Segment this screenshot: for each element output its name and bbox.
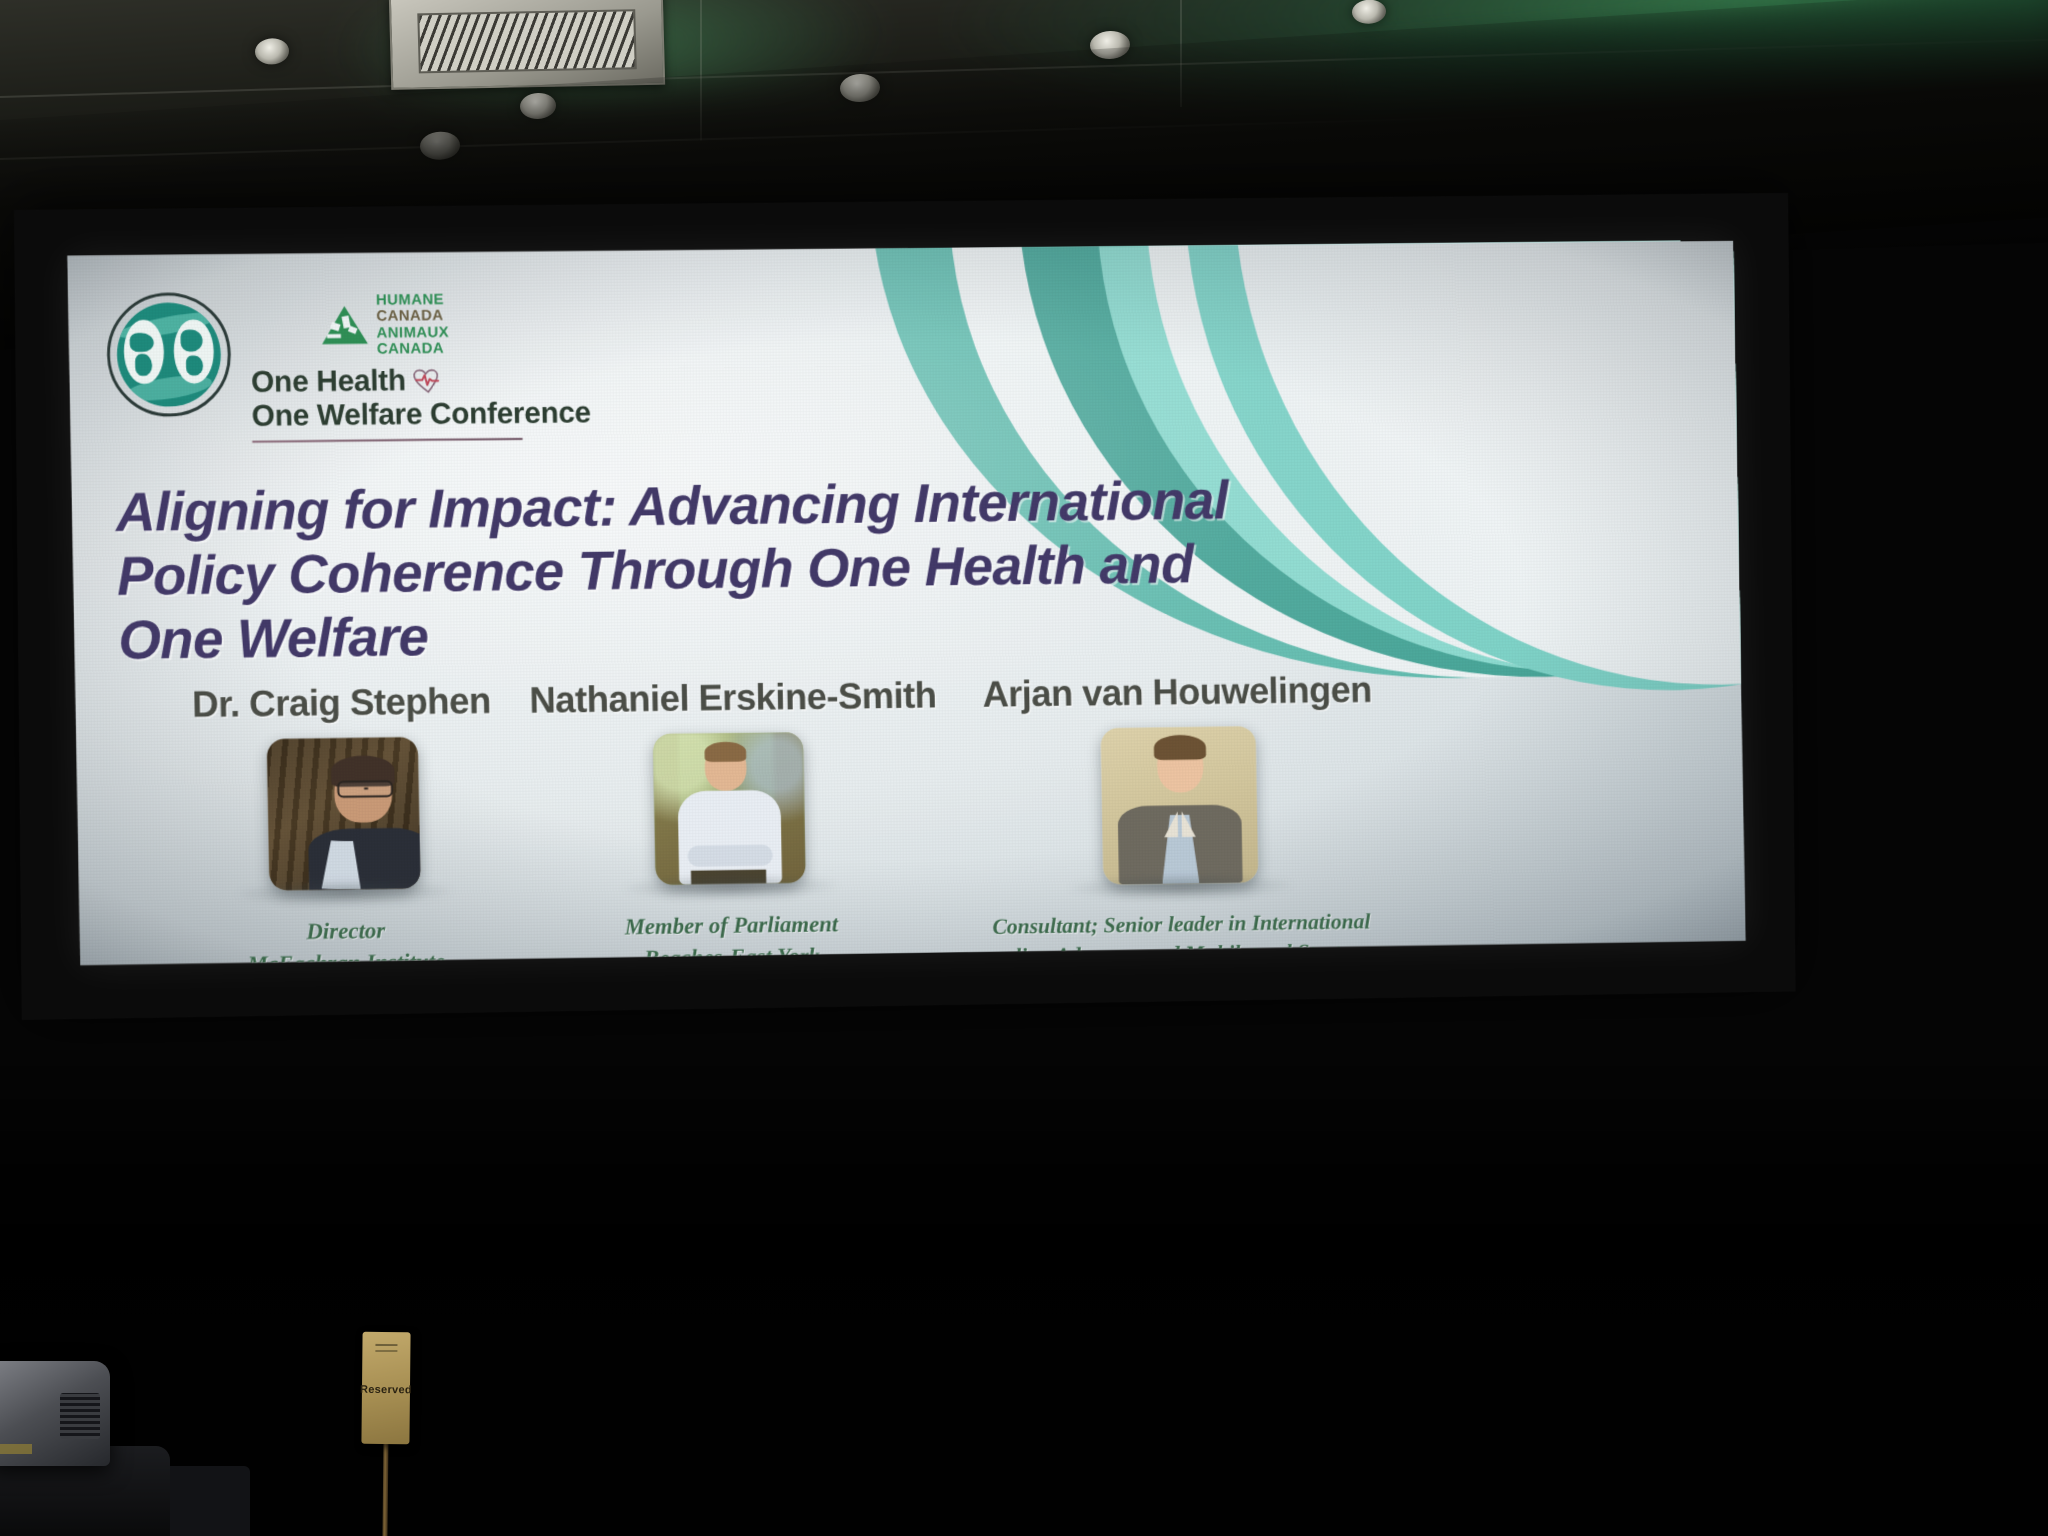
org-line-canada-en: CANADA [376, 308, 449, 324]
conference-title-lockup: One Health One Welfare Conference [251, 363, 591, 433]
speaker-role: Director McEachran Institute [171, 913, 520, 965]
presentation-slide: HUMANE CANADA ANIMAUX CANADA One Health [67, 241, 1745, 966]
conference-room-scene: HUMANE CANADA ANIMAUX CANADA One Health [0, 0, 2048, 1536]
speaker-row: Dr. Craig Stephen [119, 665, 1702, 965]
speaker-name: Dr. Craig Stephen [167, 680, 516, 726]
speaker-name: Nathaniel Erskine-Smith [529, 675, 925, 722]
portrait-drop-shadow [236, 878, 454, 907]
portrait-craig-stephen [267, 737, 421, 891]
speaker-card-craig-stephen: Dr. Craig Stephen [167, 680, 521, 965]
projector-vents [60, 1393, 100, 1439]
projection-screen-frame: HUMANE CANADA ANIMAUX CANADA One Health [14, 193, 1796, 1020]
reserved-card-label: Reserved [360, 1384, 412, 1397]
portrait-drop-shadow [1069, 872, 1293, 901]
humane-canada-triangle-icon [321, 305, 367, 345]
reserved-table-card: Reserved [361, 1332, 410, 1444]
projector-icon [0, 1361, 110, 1466]
speaker-card-arjan-van-houwelingen: Arjan van Houwelingen [946, 669, 1413, 965]
speaker-role-line: Beaches-East York [534, 939, 930, 966]
org-line-humane: HUMANE [376, 292, 449, 308]
room-foreground-shadow [0, 1066, 2048, 1536]
org-line-canada-fr: CANADA [377, 341, 450, 357]
org-line-animaux: ANIMAUX [377, 325, 450, 341]
conference-title-line1: One Health [251, 365, 406, 400]
humane-canada-lockup: HUMANE CANADA ANIMAUX CANADA [321, 291, 590, 358]
conference-logo-block: HUMANE CANADA ANIMAUX CANADA One Health [106, 289, 591, 444]
speaker-name: Arjan van Houwelingen [946, 669, 1408, 716]
portrait-arjan-van-houwelingen [1100, 726, 1258, 885]
projector-label [0, 1444, 32, 1454]
speaker-role: Consultant; Senior leader in Internation… [950, 906, 1413, 965]
speaker-role: Member of Parliament Beaches-East York [533, 907, 930, 965]
globe-two-hemispheres-icon [106, 292, 232, 417]
speaker-role-line: Director [171, 913, 520, 950]
heart-pulse-icon [413, 368, 443, 394]
portrait-drop-shadow [622, 873, 839, 902]
speaker-card-nathaniel-erskine-smith: Nathaniel Erskine-Smith [529, 675, 930, 965]
ceiling-air-vent-icon [389, 0, 665, 90]
slide-headline: Aligning for Impact: Advancing Internati… [115, 468, 1295, 672]
conference-title-line2: One Welfare Conference [251, 396, 591, 433]
vent-louvers [417, 9, 636, 73]
reserved-card-logo-icon [375, 1344, 397, 1362]
portrait-nathaniel-erskine-smith [653, 732, 806, 885]
reserved-card-stand [382, 1436, 388, 1536]
logo-accent-rule [252, 437, 522, 442]
recessed-ceiling-light-icon [255, 38, 289, 65]
